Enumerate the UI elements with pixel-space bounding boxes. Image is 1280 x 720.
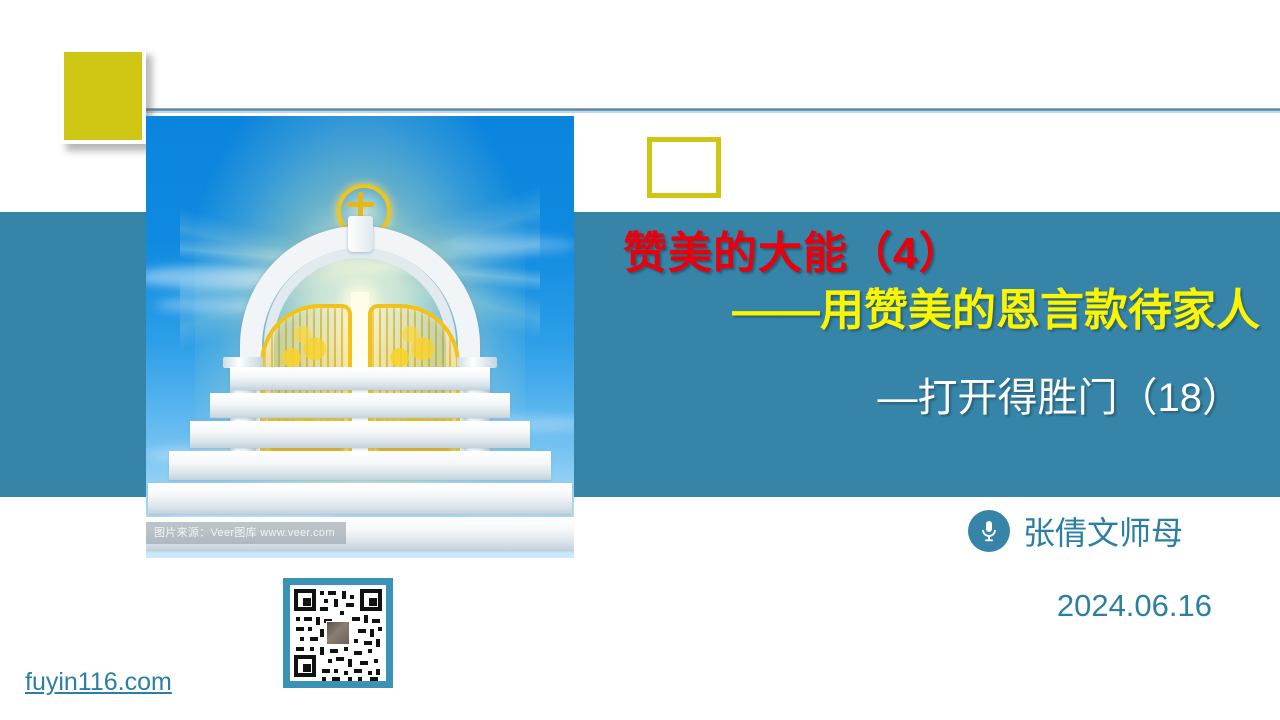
image-source-watermark: 图片来源：Veer图库 www.veer.com <box>146 522 346 544</box>
cloud-icon <box>446 236 574 254</box>
header-horizontal-rule <box>146 108 1280 111</box>
heavenly-gate-image: 图片来源：Veer图库 www.veer.com <box>146 116 574 558</box>
presentation-slide: 赞美的大能（4） ——用赞美的恩言款待家人 —打开得胜门（18） <box>0 0 1280 720</box>
stair-step <box>210 393 510 418</box>
speaker-name: 张倩文师母 <box>1023 508 1183 554</box>
qr-finder-pattern <box>294 655 316 677</box>
decorative-outlined-square <box>647 137 721 198</box>
stair-step <box>230 367 490 390</box>
title-series-line: —打开得胜门（18） <box>590 340 1260 424</box>
stair-step <box>148 483 572 514</box>
title-primary: 赞美的大能（4） <box>590 226 1260 282</box>
title-subtitle: ——用赞美的恩言款待家人 <box>590 282 1260 340</box>
title-block: 赞美的大能（4） ——用赞美的恩言款待家人 —打开得胜门（18） <box>590 226 1260 424</box>
website-link[interactable]: fuyin116.com <box>25 668 172 697</box>
decorative-filled-square <box>60 48 146 144</box>
gate-keystone <box>348 216 373 252</box>
stair-step <box>190 421 530 448</box>
microphone-icon <box>968 510 1010 552</box>
qr-code[interactable] <box>283 578 393 688</box>
header-rule-shadow <box>146 111 1280 113</box>
cross-icon <box>347 202 374 207</box>
qr-code-matrix <box>290 585 386 681</box>
qr-finder-pattern <box>360 589 382 611</box>
slide-date: 2024.06.16 <box>1057 588 1212 624</box>
qr-finder-pattern <box>294 589 316 611</box>
stair-step <box>169 451 551 480</box>
qr-center-logo <box>326 621 350 645</box>
speaker-info: 张倩文师母 <box>968 508 1183 554</box>
